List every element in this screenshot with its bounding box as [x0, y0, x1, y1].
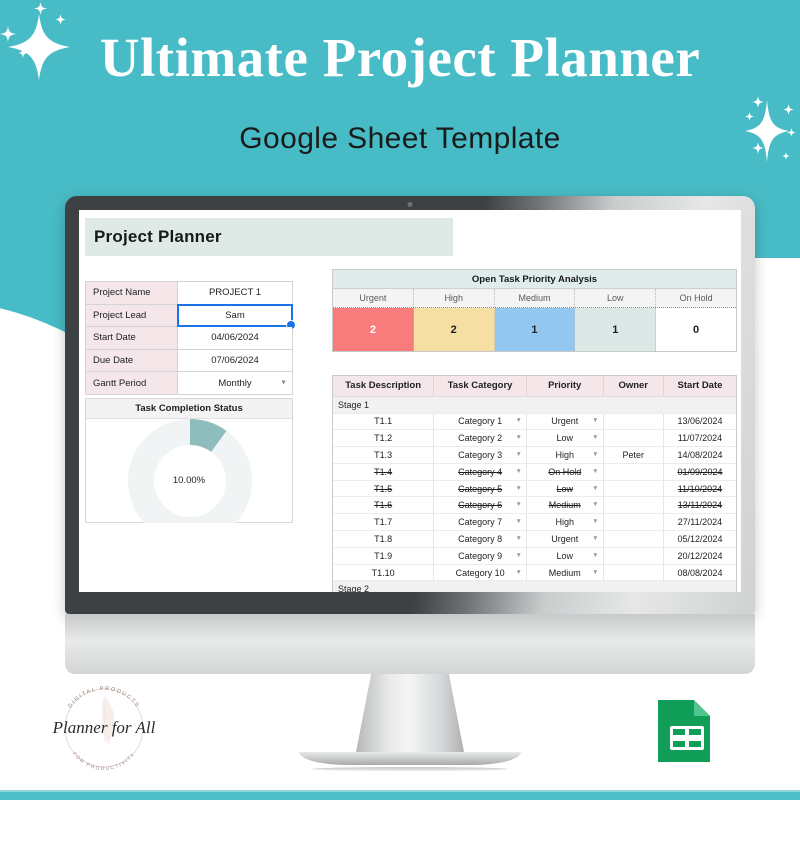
chevron-down-icon[interactable]: ▼: [592, 519, 598, 526]
chevron-down-icon[interactable]: ▼: [592, 569, 598, 576]
task-cell-start-date[interactable]: 27/11/2024: [663, 514, 736, 531]
info-value-project-lead[interactable]: Sam: [178, 304, 293, 327]
monitor-screen: Project Planner Project Name PROJECT 1: [79, 210, 741, 592]
table-row[interactable]: T1.10Category 10▼Medium▼08/08/2024: [333, 564, 736, 581]
task-cell-description[interactable]: T1.2: [333, 430, 434, 447]
task-cell-start-date[interactable]: 01/09/2024: [663, 463, 736, 480]
poster-stage: Ultimate Project Planner Google Sheet Te…: [0, 0, 800, 800]
task-col-owner: Owner: [603, 376, 663, 396]
chevron-down-icon[interactable]: ▼: [516, 569, 522, 576]
task-cell-category[interactable]: Category 8▼: [434, 531, 527, 548]
task-cell-category[interactable]: Category 6▼: [434, 497, 527, 514]
chevron-down-icon[interactable]: ▼: [516, 418, 522, 425]
brand-logo: DIGITAL PRODUCTS FOR PRODUCTIVITY Planne…: [42, 678, 167, 773]
task-cell-owner[interactable]: [603, 531, 663, 548]
priority-analysis-header-row: Urgent High Medium Low On Hold: [333, 289, 736, 307]
task-cell-description[interactable]: T1.8: [333, 531, 434, 548]
webcam-icon: [408, 202, 413, 207]
task-cell-owner[interactable]: [603, 564, 663, 581]
logo-arc-bottom-text: FOR PRODUCTIVITY: [71, 751, 137, 772]
task-cell-priority[interactable]: On Hold▼: [526, 463, 603, 480]
chevron-down-icon[interactable]: ▼: [592, 418, 598, 425]
priority-header-medium: Medium: [495, 289, 576, 307]
task-cell-description[interactable]: T1.10: [333, 564, 434, 581]
google-sheets-icon: [652, 696, 722, 766]
task-cell-owner[interactable]: Peter: [603, 447, 663, 464]
task-cell-category[interactable]: Category 9▼: [434, 547, 527, 564]
task-table-header-row: Task Description Task Category Priority …: [333, 376, 736, 396]
table-row[interactable]: T1.8Category 8▼Urgent▼05/12/2024: [333, 531, 736, 548]
chevron-down-icon[interactable]: ▼: [280, 380, 287, 387]
task-cell-description[interactable]: T1.1: [333, 413, 434, 430]
google-sheets-icon-svg: [652, 696, 722, 766]
table-row[interactable]: T1.9Category 9▼Low▼20/12/2024: [333, 547, 736, 564]
info-value-start-date[interactable]: 04/06/2024: [178, 327, 293, 350]
task-cell-priority[interactable]: Low▼: [526, 480, 603, 497]
task-cell-description[interactable]: T1.4: [333, 463, 434, 480]
task-cell-priority[interactable]: Low▼: [526, 547, 603, 564]
donut-chart: 10.00%: [86, 419, 292, 523]
task-cell-category[interactable]: Category 7▼: [434, 514, 527, 531]
task-completion-title: Task Completion Status: [86, 399, 292, 419]
task-stage-row: Stage 2: [333, 581, 736, 592]
monitor-bezel: Project Planner Project Name PROJECT 1: [65, 196, 755, 614]
task-cell-owner[interactable]: [603, 497, 663, 514]
task-cell-owner[interactable]: [603, 480, 663, 497]
chevron-down-icon[interactable]: ▼: [592, 485, 598, 492]
task-table: Task Description Task Category Priority …: [333, 376, 736, 592]
table-row[interactable]: T1.6Category 6▼Medium▼13/11/2024: [333, 497, 736, 514]
chevron-down-icon[interactable]: ▼: [516, 452, 522, 459]
task-cell-description[interactable]: T1.6: [333, 497, 434, 514]
task-stage-label: Stage 1: [333, 396, 736, 413]
priority-count-urgent: 2: [333, 308, 414, 351]
task-cell-owner[interactable]: [603, 430, 663, 447]
brand-logo-svg: DIGITAL PRODUCTS FOR PRODUCTIVITY Planne…: [42, 678, 167, 773]
priority-count-on-hold: 0: [656, 308, 736, 351]
priority-count-medium: 1: [495, 308, 576, 351]
task-cell-category[interactable]: Category 5▼: [434, 480, 527, 497]
task-cell-description[interactable]: T1.7: [333, 514, 434, 531]
priority-count-high: 2: [414, 308, 495, 351]
project-info-table: Project Name PROJECT 1 Project Lead Sam: [85, 281, 293, 395]
task-cell-start-date[interactable]: 08/08/2024: [663, 564, 736, 581]
chevron-down-icon[interactable]: ▼: [592, 435, 598, 442]
task-cell-start-date[interactable]: 11/07/2024: [663, 430, 736, 447]
table-row[interactable]: T1.7Category 7▼High▼27/11/2024: [333, 514, 736, 531]
task-cell-description[interactable]: T1.5: [333, 480, 434, 497]
info-value-text: Monthly: [218, 378, 251, 389]
chevron-down-icon[interactable]: ▼: [592, 452, 598, 459]
task-cell-owner[interactable]: [603, 463, 663, 480]
task-stage-row: Stage 1: [333, 396, 736, 413]
table-row[interactable]: T1.4Category 4▼On Hold▼01/09/2024: [333, 463, 736, 480]
priority-header-low: Low: [575, 289, 656, 307]
table-row[interactable]: T1.1Category 1▼Urgent▼13/06/2024: [333, 413, 736, 430]
task-cell-start-date[interactable]: 11/10/2024: [663, 480, 736, 497]
info-label-gantt-period: Gantt Period: [86, 372, 178, 395]
logo-wordmark: Planner for All: [52, 718, 156, 737]
chevron-down-icon[interactable]: ▼: [516, 536, 522, 543]
table-row[interactable]: Gantt Period Monthly ▼: [86, 372, 293, 395]
priority-header-high: High: [414, 289, 495, 307]
table-row[interactable]: T1.2Category 2▼Low▼11/07/2024: [333, 430, 736, 447]
task-cell-start-date[interactable]: 13/06/2024: [663, 413, 736, 430]
task-cell-priority[interactable]: Urgent▼: [526, 531, 603, 548]
task-cell-start-date[interactable]: 13/11/2024: [663, 497, 736, 514]
task-cell-priority[interactable]: Medium▼: [526, 564, 603, 581]
task-col-category: Task Category: [434, 376, 527, 396]
chevron-down-icon[interactable]: ▼: [592, 469, 598, 476]
task-cell-priority[interactable]: Low▼: [526, 430, 603, 447]
task-cell-description[interactable]: T1.9: [333, 547, 434, 564]
info-value-gantt-period[interactable]: Monthly ▼: [178, 372, 293, 395]
table-row[interactable]: Start Date 04/06/2024: [86, 327, 293, 350]
chevron-down-icon[interactable]: ▼: [516, 502, 522, 509]
task-col-priority: Priority: [526, 376, 603, 396]
info-label-start-date: Start Date: [86, 327, 178, 350]
task-table-panel: Task Description Task Category Priority …: [332, 375, 737, 592]
priority-count-low: 1: [575, 308, 656, 351]
info-value-project-name[interactable]: PROJECT 1: [178, 282, 293, 305]
monitor-stand-neck: [356, 674, 464, 752]
task-cell-priority[interactable]: High▼: [526, 447, 603, 464]
task-cell-start-date[interactable]: 14/08/2024: [663, 447, 736, 464]
monitor-mockup: Project Planner Project Name PROJECT 1: [65, 196, 755, 771]
task-cell-category[interactable]: Category 10▼: [434, 564, 527, 581]
task-cell-owner[interactable]: [603, 413, 663, 430]
chevron-down-icon[interactable]: ▼: [516, 485, 522, 492]
page-title: Ultimate Project Planner: [0, 28, 800, 89]
task-cell-category[interactable]: Category 4▼: [434, 463, 527, 480]
info-value-due-date[interactable]: 07/06/2024: [178, 349, 293, 372]
task-cell-start-date[interactable]: 05/12/2024: [663, 531, 736, 548]
table-row[interactable]: Project Name PROJECT 1: [86, 282, 293, 305]
task-cell-owner[interactable]: [603, 514, 663, 531]
page-subtitle: Google Sheet Template: [0, 122, 800, 156]
chevron-down-icon[interactable]: ▼: [516, 435, 522, 442]
table-row[interactable]: T1.5Category 5▼Low▼11/10/2024: [333, 480, 736, 497]
project-info-body: Project Name PROJECT 1 Project Lead Sam: [86, 282, 293, 395]
task-cell-category[interactable]: Category 1▼: [434, 413, 527, 430]
priority-analysis-panel: Open Task Priority Analysis Urgent High …: [332, 269, 737, 352]
background-bottom-stripe: [0, 790, 800, 800]
priority-analysis-title: Open Task Priority Analysis: [333, 270, 736, 289]
task-cell-priority[interactable]: High▼: [526, 514, 603, 531]
table-row[interactable]: Project Lead Sam: [86, 304, 293, 327]
info-label-project-lead: Project Lead: [86, 304, 178, 327]
chevron-down-icon[interactable]: ▼: [592, 553, 598, 560]
monitor-stand-base-shadow: [312, 767, 508, 771]
priority-header-on-hold: On Hold: [656, 289, 736, 307]
donut-chart-svg: [86, 419, 294, 523]
monitor-chin: [65, 614, 755, 674]
task-completion-card: Task Completion Status 10.00%: [85, 398, 293, 523]
spreadsheet-title: Project Planner: [94, 227, 222, 247]
task-cell-category[interactable]: Category 2▼: [434, 430, 527, 447]
spreadsheet-canvas: Project Planner Project Name PROJECT 1: [79, 210, 741, 592]
task-cell-priority[interactable]: Urgent▼: [526, 413, 603, 430]
task-col-start-date: Start Date: [663, 376, 736, 396]
monitor-stand-base: [299, 752, 521, 765]
spreadsheet-title-band: Project Planner: [85, 218, 453, 256]
info-label-due-date: Due Date: [86, 349, 178, 372]
chevron-down-icon[interactable]: ▼: [592, 502, 598, 509]
task-table-body: Stage 1T1.1Category 1▼Urgent▼13/06/2024T…: [333, 396, 736, 592]
task-cell-description[interactable]: T1.3: [333, 447, 434, 464]
info-value-text: 07/06/2024: [211, 355, 259, 366]
chevron-down-icon[interactable]: ▼: [592, 536, 598, 543]
chevron-down-icon[interactable]: ▼: [516, 553, 522, 560]
table-row[interactable]: T1.3Category 3▼High▼Peter14/08/2024: [333, 447, 736, 464]
info-label-project-name: Project Name: [86, 282, 178, 305]
chevron-down-icon[interactable]: ▼: [516, 469, 522, 476]
info-value-text: Sam: [225, 310, 245, 321]
task-cell-category[interactable]: Category 3▼: [434, 447, 527, 464]
info-value-text: 04/06/2024: [211, 332, 259, 343]
task-col-description: Task Description: [333, 376, 434, 396]
task-completion-percent: 10.00%: [86, 475, 292, 486]
task-stage-label: Stage 2: [333, 581, 736, 592]
chevron-down-icon[interactable]: ▼: [516, 519, 522, 526]
priority-header-urgent: Urgent: [333, 289, 414, 307]
priority-analysis-value-row: 2 2 1 1 0: [333, 307, 736, 351]
task-cell-owner[interactable]: [603, 547, 663, 564]
task-table-head: Task Description Task Category Priority …: [333, 376, 736, 396]
task-cell-start-date[interactable]: 20/12/2024: [663, 547, 736, 564]
table-row[interactable]: Due Date 07/06/2024: [86, 349, 293, 372]
task-cell-priority[interactable]: Medium▼: [526, 497, 603, 514]
info-value-text: PROJECT 1: [209, 287, 261, 298]
